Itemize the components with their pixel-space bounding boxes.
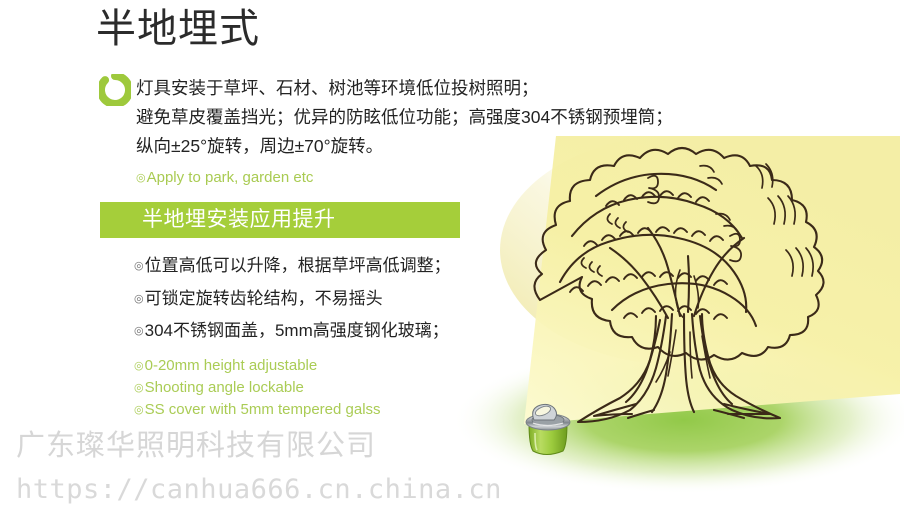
feature-list: ◎位置高低可以升降，根据草坪高低调整； ◎可锁定旋转齿轮结构，不易摇头 ◎304… [134,250,564,421]
feature-en-label-3: SS cover with 5mm tempered galss [145,401,381,418]
bullet-marker-icon: ◎ [134,325,144,337]
bullet-marker-icon: ◎ [134,404,144,416]
feature-en-item-3: ◎SS cover with 5mm tempered galss [134,399,564,421]
bullet-marker-icon: ◎ [134,382,144,394]
slide-root: 半地埋式 灯具安装于草坪、石材、树池等环境低位投树照明； 避免草皮覆盖挡光；优异… [0,0,904,519]
section-banner: 半地埋安装应用提升 [100,202,460,238]
intro-line-3: 纵向±25°旋转，周边±70°旋转。 [136,132,736,161]
feature-cn-label-3: 304不锈钢面盖，5mm高强度钢化玻璃； [145,321,449,340]
intro-paragraph: 灯具安装于草坪、石材、树池等环境低位投树照明； 避免草皮覆盖挡光；优异的防眩低位… [136,74,736,161]
slide-content: 半地埋式 灯具安装于草坪、石材、树池等环境低位投树照明； 避免草皮覆盖挡光；优异… [0,0,904,519]
apply-scope-label: Apply to park, garden etc [147,169,314,186]
intro-line-2: 避免草皮覆盖挡光；优异的防眩低位功能；高强度304不锈钢预埋筒； [136,103,736,132]
apply-scope-text: ◎Apply to park, garden etc [136,167,313,189]
page-title: 半地埋式 [96,2,260,56]
feature-en-list: ◎0-20mm height adjustable ◎Shooting angl… [134,355,564,421]
feature-cn-label-1: 位置高低可以升降，根据草坪高低调整； [145,256,451,275]
bullet-marker-icon: ◎ [134,293,144,305]
green-ring-icon [99,74,131,106]
feature-cn-label-2: 可锁定旋转齿轮结构，不易摇头 [145,289,383,308]
feature-cn-item-1: ◎位置高低可以升降，根据草坪高低调整； [134,250,564,283]
feature-en-item-2: ◎Shooting angle lockable [134,377,564,399]
section-banner-label: 半地埋安装应用提升 [142,207,336,233]
intro-line-1: 灯具安装于草坪、石材、树池等环境低位投树照明； [136,74,736,103]
feature-cn-item-2: ◎可锁定旋转齿轮结构，不易摇头 [134,283,564,316]
bullet-marker-icon: ◎ [136,172,146,184]
feature-en-label-2: Shooting angle lockable [145,379,304,396]
bullet-marker-icon: ◎ [134,360,144,372]
feature-en-label-1: 0-20mm height adjustable [145,357,318,374]
feature-en-item-1: ◎0-20mm height adjustable [134,355,564,377]
bullet-marker-icon: ◎ [134,260,144,272]
feature-cn-item-3: ◎304不锈钢面盖，5mm高强度钢化玻璃； [134,315,564,348]
